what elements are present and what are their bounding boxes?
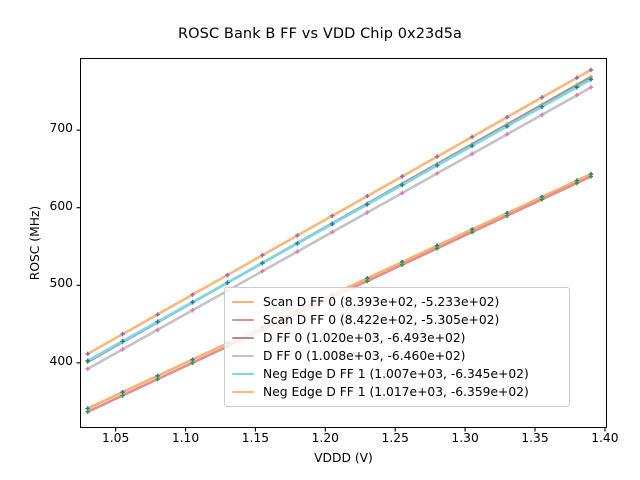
legend-item[interactable]: Neg Edge D FF 1 (1.007e+03, -6.345e+02)	[232, 365, 561, 383]
legend-color-swatch	[232, 391, 254, 393]
x-tick-label: 1.10	[161, 431, 211, 445]
x-tick-label: 1.40	[580, 431, 630, 445]
legend-item-label: Neg Edge D FF 1 (1.007e+03, -6.345e+02)	[263, 365, 529, 383]
x-axis-label: VDDD (V)	[80, 451, 607, 465]
y-tick-label: 500	[27, 276, 73, 290]
x-tick-label: 1.15	[230, 431, 280, 445]
legend-item-label: D FF 0 (1.020e+03, -6.493e+02)	[263, 329, 465, 347]
chart-legend[interactable]: Scan D FF 0 (8.393e+02, -5.233e+02)Scan …	[224, 287, 570, 407]
x-tick-label: 1.05	[91, 431, 141, 445]
y-tick-label: 600	[27, 199, 73, 213]
legend-color-swatch	[232, 337, 254, 339]
legend-color-swatch	[232, 355, 254, 357]
legend-item[interactable]: Scan D FF 0 (8.393e+02, -5.233e+02)	[232, 293, 561, 311]
legend-item-label: D FF 0 (1.008e+03, -6.460e+02)	[263, 347, 465, 365]
figure-canvas: ROSC Bank B FF vs VDD Chip 0x23d5a ROSC …	[0, 0, 640, 480]
legend-item[interactable]: Scan D FF 0 (8.422e+02, -5.305e+02)	[232, 311, 561, 329]
x-tick-label: 1.20	[300, 431, 350, 445]
x-tick-label: 1.30	[440, 431, 490, 445]
legend-item-label: Neg Edge D FF 1 (1.017e+03, -6.359e+02)	[263, 383, 529, 401]
legend-color-swatch	[232, 373, 254, 375]
legend-item-label: Scan D FF 0 (8.422e+02, -5.305e+02)	[263, 311, 499, 329]
y-axis-label: ROSC (MHz)	[28, 58, 48, 428]
x-tick-label: 1.25	[370, 431, 420, 445]
legend-color-swatch	[232, 301, 254, 303]
x-tick-label: 1.35	[510, 431, 560, 445]
y-tick-label: 700	[27, 121, 73, 135]
chart-title: ROSC Bank B FF vs VDD Chip 0x23d5a	[0, 26, 640, 42]
legend-item[interactable]: D FF 0 (1.008e+03, -6.460e+02)	[232, 347, 561, 365]
legend-color-swatch	[232, 319, 254, 321]
legend-item[interactable]: Neg Edge D FF 1 (1.017e+03, -6.359e+02)	[232, 383, 561, 401]
legend-item[interactable]: D FF 0 (1.020e+03, -6.493e+02)	[232, 329, 561, 347]
legend-item-label: Scan D FF 0 (8.393e+02, -5.233e+02)	[263, 293, 499, 311]
y-tick-label: 400	[27, 354, 73, 368]
